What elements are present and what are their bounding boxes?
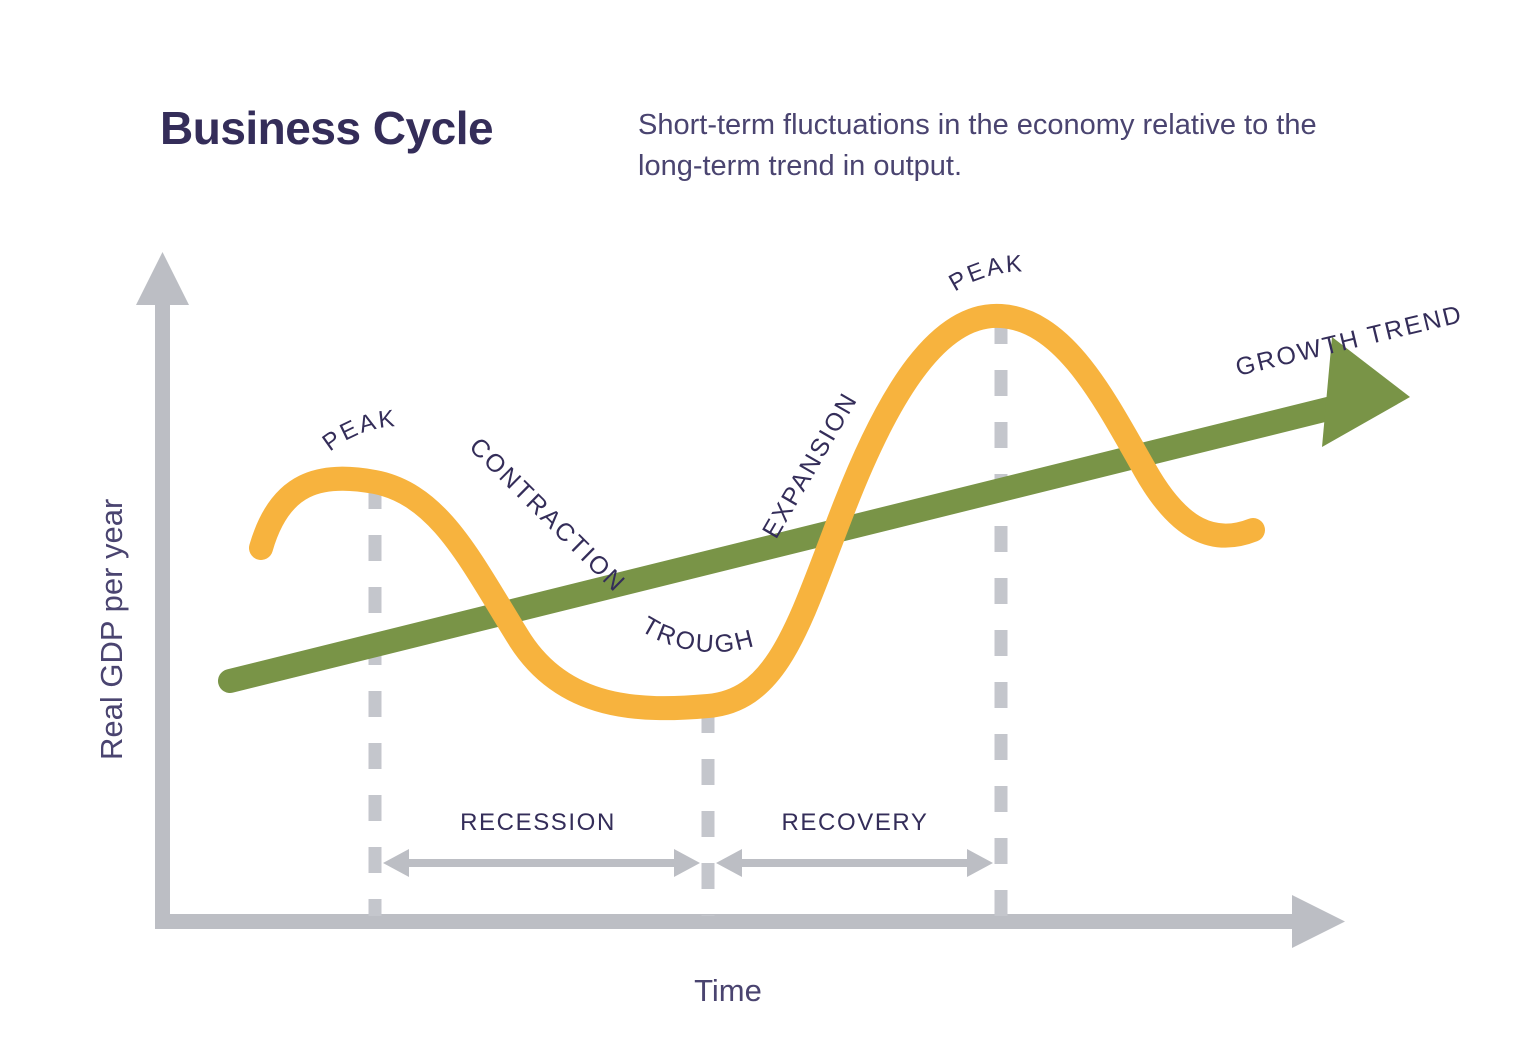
label-recovery: RECOVERY — [781, 809, 928, 836]
span-recovery: RECOVERY — [716, 809, 993, 877]
label-peak-first: PEAK — [318, 405, 399, 457]
x-axis — [155, 895, 1345, 948]
chart-canvas: Real GDP per year Time PEAK PEAK TROUGH … — [0, 0, 1536, 1060]
span-recession: RECESSION — [383, 809, 700, 877]
y-axis — [136, 252, 189, 922]
label-peak-second: PEAK — [944, 250, 1025, 297]
business-cycle-diagram: Business Cycle Short-term fluctuations i… — [0, 0, 1536, 1060]
y-axis-label: Real GDP per year — [94, 499, 129, 760]
label-recession: RECESSION — [460, 809, 616, 836]
x-axis-label: Time — [694, 973, 762, 1008]
label-trough: TROUGH — [637, 611, 758, 658]
growth-trend-arrow — [230, 337, 1410, 681]
